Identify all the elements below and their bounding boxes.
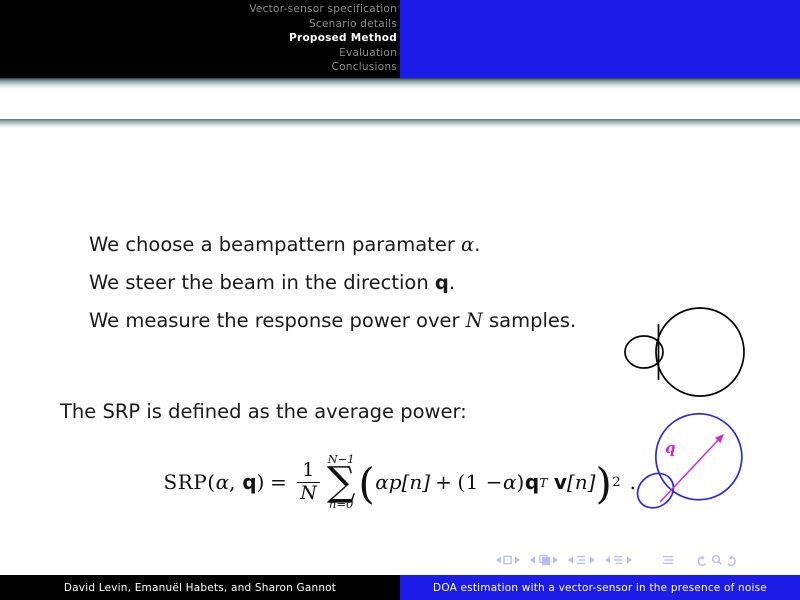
- search-icon: [713, 555, 722, 564]
- eq-q-arg: q: [242, 470, 256, 494]
- prev-section-icon: [605, 556, 610, 563]
- eq-term2-q: q: [525, 470, 539, 494]
- eq-frac-denominator: N: [297, 482, 320, 504]
- main-lobe-circle: [656, 308, 744, 396]
- bullet-3-rest: samples.: [483, 309, 576, 332]
- nav-item-scenario-details[interactable]: Scenario details: [249, 17, 397, 32]
- footer-bar: David Levin, Emanuël Habets, and Sharon …: [0, 575, 800, 600]
- eq-paren-open: (: [207, 470, 215, 494]
- footer-authors: David Levin, Emanuël Habets, and Sharon …: [0, 575, 400, 600]
- beampattern-steered-svg: q: [605, 411, 765, 526]
- beampattern-unsteered-svg: [610, 300, 760, 410]
- main-lobe-circle-steered: [638, 411, 759, 517]
- next-slide-icon: [515, 556, 520, 563]
- footer-title: DOA estimation with a vector-sensor in t…: [400, 575, 800, 600]
- eq-term2-transpose: T: [539, 475, 547, 490]
- nav-item-conclusions[interactable]: Conclusions: [249, 60, 397, 75]
- eq-term2-v: v: [554, 470, 567, 494]
- nav-item-proposed-method[interactable]: Proposed Method: [249, 31, 397, 46]
- bullet-list: We choose a beampattern paramater α. We …: [89, 226, 609, 340]
- beampattern-diagram-steered: q: [605, 411, 765, 530]
- bullet-3-n: N: [466, 309, 483, 332]
- slide-icon: [504, 556, 511, 563]
- eq-big-paren-open: (: [358, 471, 375, 496]
- eq-term2-open: (1 −: [457, 470, 503, 494]
- eq-term2-close: ): [517, 470, 525, 494]
- bullet-2-text: We steer the beam in the direction: [89, 271, 435, 294]
- direction-vector-label: q: [665, 439, 676, 457]
- srp-intro-text: The SRP is defined as the average power:: [60, 400, 467, 423]
- bullet-item-1: We choose a beampattern paramater α.: [89, 226, 609, 264]
- eq-alpha-arg: α: [216, 470, 230, 494]
- back-lobe-ellipse-steered: [631, 466, 681, 515]
- eq-term1-alpha: α: [375, 470, 389, 494]
- slide-content: We choose a beampattern paramater α. We …: [0, 128, 800, 548]
- navigation-symbols-svg[interactable]: [494, 553, 786, 567]
- nav-item-vector-sensor-specification[interactable]: Vector-sensor specification: [249, 2, 397, 17]
- section-icon: [614, 556, 622, 563]
- eq-srp-name: SRP: [164, 470, 208, 494]
- frame-icon: [540, 555, 550, 564]
- bullet-1-text: We choose a beampattern paramater: [89, 233, 461, 256]
- headline-bar: Vector-sensor specification Scenario det…: [0, 0, 800, 78]
- subsection-icon: [577, 556, 585, 563]
- eq-comma: ,: [229, 470, 236, 494]
- sigma-icon: ∑: [327, 464, 356, 501]
- eq-term2-alpha: α: [503, 470, 517, 494]
- bullet-2-period: .: [449, 271, 455, 294]
- section-navigation[interactable]: Vector-sensor specification Scenario det…: [249, 2, 397, 75]
- eq-sum-lower-limit: n=0: [329, 499, 353, 511]
- bullet-1-alpha: α: [461, 233, 474, 256]
- eq-plus: +: [430, 470, 457, 494]
- eq-paren-close: ): [257, 470, 265, 494]
- back-lobe-ellipse: [625, 336, 663, 368]
- next-section-icon: [627, 556, 632, 563]
- next-frame-icon: [553, 556, 558, 563]
- header-divider-bottom: [0, 119, 800, 128]
- forward-icon: [728, 555, 735, 565]
- bullet-3-text: We measure the response power over: [89, 309, 466, 332]
- eq-term1-index: [n]: [402, 470, 431, 494]
- prev-subsection-icon: [568, 556, 573, 563]
- eq-summation: N−1 ∑ n=0: [327, 454, 356, 511]
- prev-slide-icon: [496, 556, 501, 563]
- prev-frame-icon: [530, 556, 535, 563]
- eq-term1-p: p: [389, 470, 402, 494]
- document-icon: [663, 556, 673, 563]
- eq-frac-numerator: 1: [299, 461, 318, 482]
- bullet-1-period: .: [474, 233, 480, 256]
- bullet-2-q: q: [435, 271, 449, 294]
- nav-item-evaluation[interactable]: Evaluation: [249, 46, 397, 61]
- bullet-item-2: We steer the beam in the direction q.: [89, 264, 609, 302]
- beampattern-diagram-unsteered: [610, 300, 760, 414]
- back-icon: [698, 555, 705, 565]
- eq-fraction-one-over-n: 1 N: [297, 461, 320, 504]
- title-band: [0, 89, 800, 119]
- header-divider-top: [0, 78, 800, 89]
- eq-term2-index: [n]: [567, 470, 596, 494]
- bullet-item-3: We measure the response power over N sam…: [89, 302, 609, 340]
- next-subsection-icon: [590, 556, 595, 563]
- eq-equals: =: [265, 470, 292, 494]
- beamer-navigation-symbols[interactable]: [0, 552, 800, 567]
